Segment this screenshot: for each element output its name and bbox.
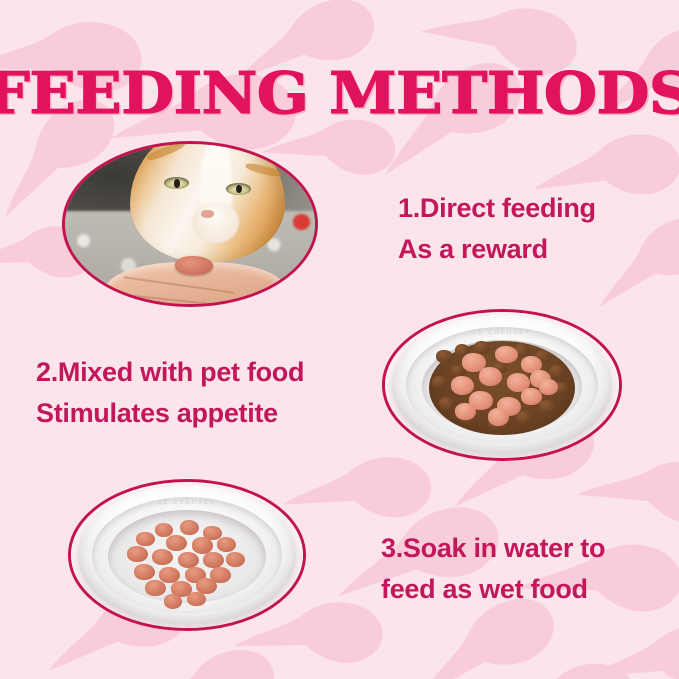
cat-eating-treat-from-hand-photo bbox=[62, 141, 318, 307]
method-3-line-1: 3.Soak in water to bbox=[381, 528, 605, 569]
page-title: FEEDING METHODS bbox=[0, 64, 679, 124]
method-3-caption: 3.Soak in water to feed as wet food bbox=[381, 528, 605, 610]
method-2-line-2: Stimulates appetite bbox=[36, 393, 304, 434]
cat-right-eye bbox=[226, 183, 251, 195]
method-2-line-1: 2.Mixed with pet food bbox=[36, 352, 304, 393]
method-3-line-2: feed as wet food bbox=[381, 569, 605, 610]
bowl-brand-text: LE CREUSET bbox=[473, 330, 531, 336]
bowl-soaked-content: LE CREUSET bbox=[71, 482, 303, 628]
cat-left-eye bbox=[164, 177, 189, 189]
cat-photo-content bbox=[65, 144, 315, 304]
method-1-line-2: As a reward bbox=[398, 229, 596, 270]
bowl-brand-text: LE CREUSET bbox=[158, 500, 216, 506]
method-1-line-1: 1.Direct feeding bbox=[398, 188, 596, 229]
method-1-caption: 1.Direct feeding As a reward bbox=[398, 188, 596, 270]
bowl-of-kibble-mixed-with-treats-photo: LE CREUSET bbox=[382, 309, 622, 461]
bowl-mixed-content: LE CREUSET bbox=[385, 312, 619, 458]
bowl-of-soaked-treats-photo: LE CREUSET bbox=[68, 479, 306, 631]
cat-muzzle bbox=[192, 202, 239, 243]
treat-piece bbox=[175, 256, 213, 275]
cat-head bbox=[130, 141, 285, 262]
method-2-caption: 2.Mixed with pet food Stimulates appetit… bbox=[36, 352, 304, 434]
feeding-methods-poster: FEEDING METHODS bbox=[0, 0, 679, 679]
